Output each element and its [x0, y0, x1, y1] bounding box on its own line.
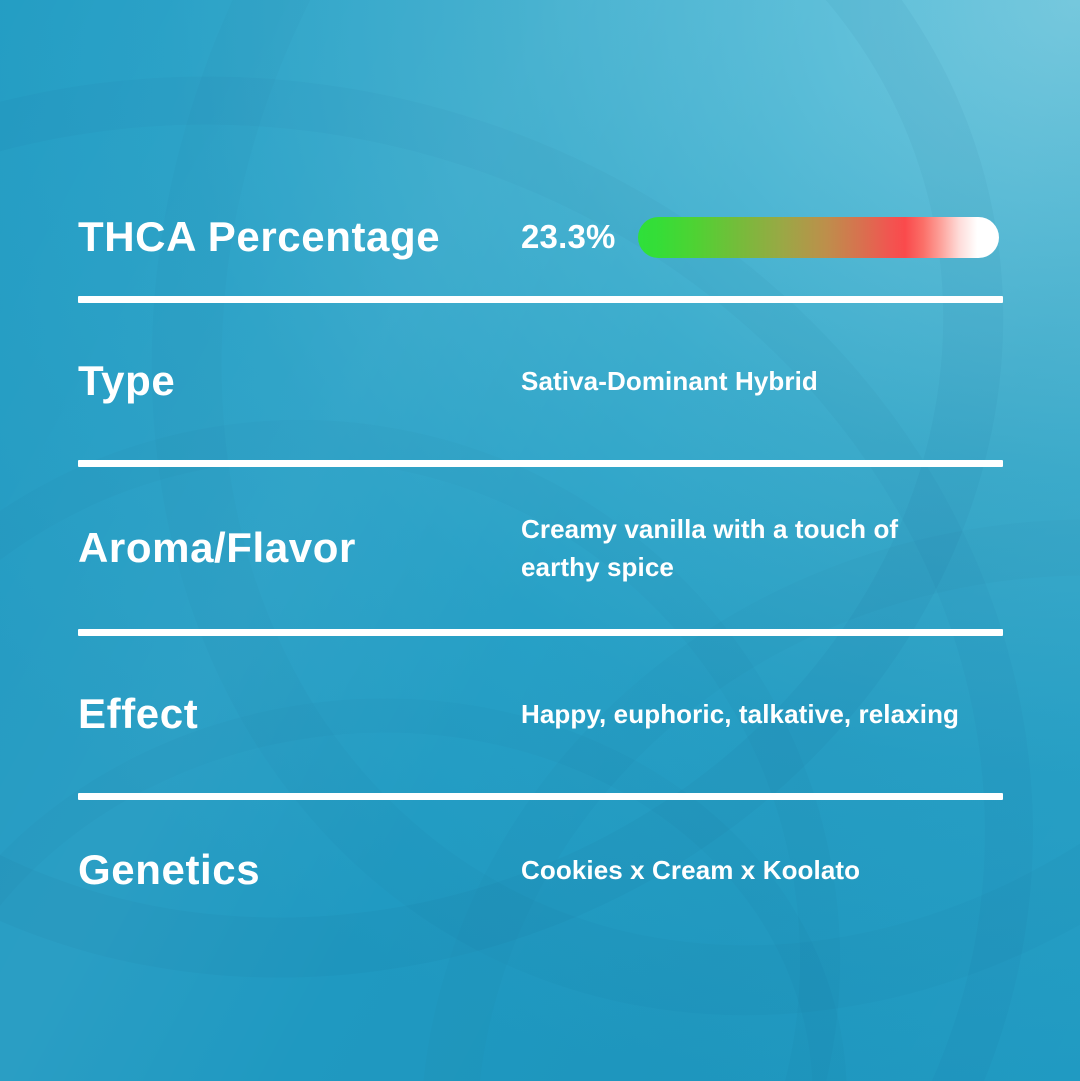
spec-label-thca-percentage: THCA Percentage [78, 215, 521, 259]
thca-value-group: 23.3% [521, 217, 1003, 258]
row-divider [78, 629, 1003, 636]
row-divider [78, 793, 1003, 800]
spec-value-thca-percentage: 23.3% [521, 218, 616, 256]
spec-row-type: Type Sativa-Dominant Hybrid [78, 303, 1003, 460]
spec-value-aroma-flavor: Creamy vanilla with a touch of earthy sp… [521, 510, 941, 587]
spec-label-aroma-flavor: Aroma/Flavor [78, 526, 521, 570]
strain-spec-card: THCA Percentage 23.3% Type Sativa-Domina… [0, 0, 1080, 1081]
spec-row-effect: Effect Happy, euphoric, talkative, relax… [78, 636, 1003, 793]
spec-label-genetics: Genetics [78, 848, 521, 892]
spec-value-type: Sativa-Dominant Hybrid [521, 362, 1003, 400]
spec-row-aroma-flavor: Aroma/Flavor Creamy vanilla with a touch… [78, 467, 1003, 629]
row-divider [78, 460, 1003, 467]
spec-label-type: Type [78, 359, 521, 403]
spec-value-effect: Happy, euphoric, talkative, relaxing [521, 695, 1003, 733]
thca-potency-gradient-bar [638, 217, 999, 258]
spec-row-thca-percentage: THCA Percentage 23.3% [78, 178, 1003, 296]
spec-value-genetics: Cookies x Cream x Koolato [521, 851, 1003, 889]
row-divider [78, 296, 1003, 303]
spec-label-effect: Effect [78, 692, 521, 736]
spec-table: THCA Percentage 23.3% Type Sativa-Domina… [78, 178, 1003, 940]
spec-row-genetics: Genetics Cookies x Cream x Koolato [78, 800, 1003, 940]
